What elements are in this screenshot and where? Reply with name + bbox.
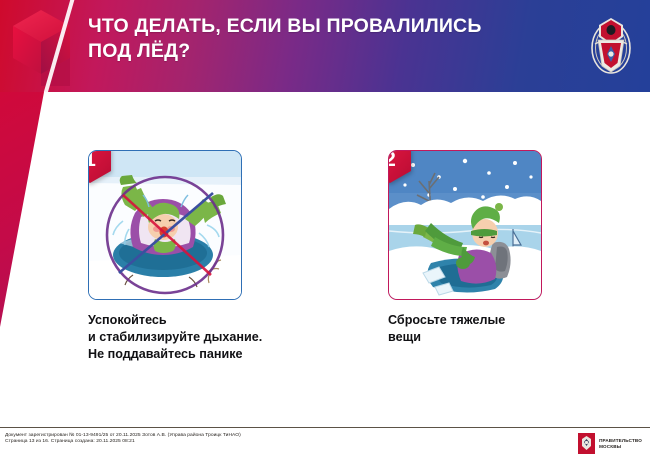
- step-card-1: 1 Успокойтесь и стабилизируйте дыхание. …: [88, 150, 273, 363]
- step-1-number: 1: [88, 150, 111, 183]
- person-dropping-backpack-icon: [389, 151, 541, 299]
- cube-logo-icon: [10, 8, 84, 86]
- moscow-coat-of-arms-icon: [590, 14, 632, 76]
- slide-header: ЧТО ДЕЛАТЬ, ЕСЛИ ВЫ ПРОВАЛИЛИСЬ ПОД ЛЁД?: [0, 0, 650, 92]
- government-label: ПРАВИТЕЛЬСТВО МОСКВЫ: [599, 438, 642, 450]
- step-2-illustration-frame: 2: [388, 150, 542, 300]
- step-2-number: 2: [388, 150, 411, 183]
- step-1-illustration-frame: 1: [88, 150, 242, 300]
- step-card-2: 2 Сбросьте тяжелые вещи: [388, 150, 573, 346]
- person-panicking-in-ice-hole-icon: [89, 151, 241, 299]
- slide: ЧТО ДЕЛАТЬ, ЕСЛИ ВЫ ПРОВАЛИЛИСЬ ПОД ЛЁД?: [0, 0, 650, 460]
- step-2-caption: Сбросьте тяжелые вещи: [388, 312, 618, 346]
- document-footer: Документ зарегистрирован № 01-13-9491/25…: [0, 428, 650, 460]
- page-title: ЧТО ДЕЛАТЬ, ЕСЛИ ВЫ ПРОВАЛИЛИСЬ ПОД ЛЁД?: [88, 14, 528, 64]
- government-logo: ПРАВИТЕЛЬСТВО МОСКВЫ: [578, 433, 642, 454]
- step-2-badge: 2: [388, 150, 411, 183]
- moscow-coat-of-arms-icon: [578, 433, 595, 454]
- slide-content: 1 Успокойтесь и стабилизируйте дыхание. …: [0, 92, 650, 395]
- registration-stamp: Документ зарегистрирован № 01-13-9491/25…: [5, 433, 435, 446]
- step-1-caption: Успокойтесь и стабилизируйте дыхание. Не…: [88, 312, 318, 363]
- step-1-badge: 1: [88, 150, 111, 183]
